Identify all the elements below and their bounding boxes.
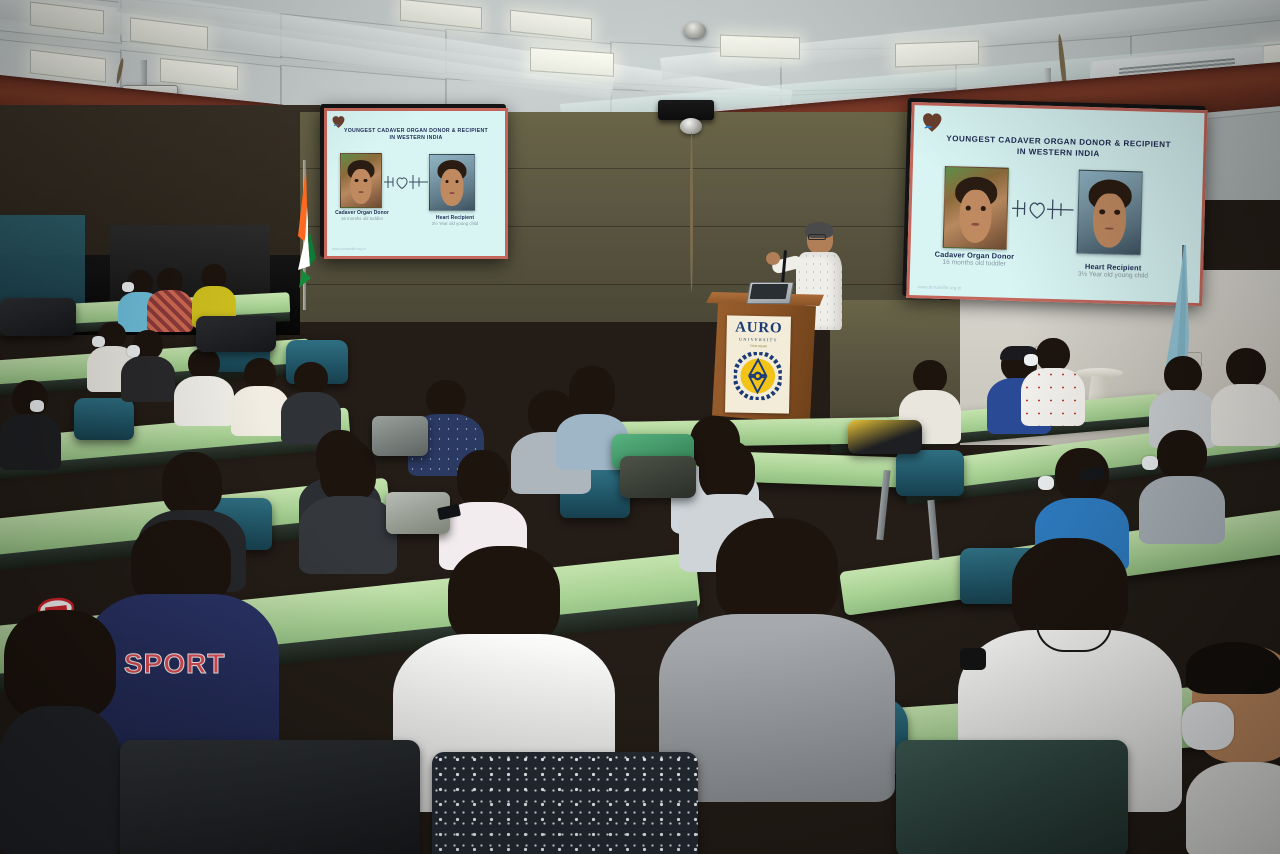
recipient-caption-sub: 3½ Year old young child	[419, 221, 491, 226]
audience-member-foreground-right-masked	[1186, 646, 1280, 854]
chair-back-row5-c[interactable]	[896, 450, 964, 496]
donate-life-heart-logo-right	[922, 111, 943, 134]
donor-photo-right	[943, 166, 1009, 250]
face-mask	[127, 345, 140, 357]
audience-member-left-3	[176, 348, 232, 420]
audience-member-foreground-bottom-left	[0, 610, 120, 854]
face-mask	[1142, 456, 1158, 470]
chair-leg-2	[927, 500, 939, 560]
audience-member-backrow-3	[192, 264, 236, 322]
face-mask	[1182, 702, 1234, 750]
backpack-grey-left	[0, 298, 76, 336]
audience-member-left-2	[122, 330, 174, 396]
recipient-photo-left	[429, 154, 475, 211]
backpack-yellow-right	[848, 420, 922, 454]
backpack-speckled-foreground	[432, 752, 698, 854]
ceiling-speaker	[658, 100, 714, 120]
shirt-graphic-text: SPORT	[124, 648, 225, 680]
wristwatch	[960, 648, 986, 670]
slide-title-right: YOUNGEST CADAVER ORGAN DONOR & RECIPIENT…	[931, 134, 1187, 162]
presenter-hand	[766, 252, 780, 265]
chair-back-row4-a[interactable]	[74, 398, 134, 440]
slide-title-left: YOUNGEST CADAVER ORGAN DONOR & RECIPIENT…	[338, 128, 495, 142]
slide-title-line2: IN WESTERN INDIA	[338, 135, 495, 142]
backpack-green-foreground	[896, 740, 1128, 854]
face-mask	[1038, 476, 1054, 490]
podium-sign: AURO UNIVERSITY Think Impact	[725, 315, 791, 413]
recipient-caption-left: Heart Recipient 3½ Year old young child	[419, 215, 491, 226]
face-mask	[30, 400, 44, 412]
head	[4, 610, 116, 720]
speaker-cable	[690, 132, 693, 292]
audience-member-backrow-2	[148, 268, 192, 326]
recipient-photo-right	[1077, 170, 1143, 256]
face-mask	[92, 336, 105, 347]
slide-url-right: www.donatelife.org.in	[917, 284, 961, 290]
auditorium-lecture-scene: YOUNGEST CADAVER ORGAN DONOR & RECIPIENT…	[0, 0, 1280, 854]
backpack-grey-row3	[372, 416, 428, 456]
audience-member-row3-2	[300, 440, 396, 566]
dome-security-camera	[684, 22, 706, 38]
dark-shirt	[0, 706, 123, 854]
slide-left: YOUNGEST CADAVER ORGAN DONOR & RECIPIENT…	[324, 108, 508, 259]
audience-member-right-6	[1140, 430, 1224, 538]
projection-screen-left: YOUNGEST CADAVER ORGAN DONOR & RECIPIENT…	[320, 104, 506, 257]
presenter-glasses	[808, 234, 826, 240]
podium-brand-sub: UNIVERSITY	[739, 337, 778, 343]
head	[716, 518, 838, 626]
donor-caption-sub: 16 months old toddler	[331, 216, 393, 221]
audience-member-right-3	[1022, 338, 1084, 420]
donor-photo-left	[340, 153, 382, 208]
podium-brand: AURO	[735, 321, 782, 337]
podium-tagline: Think Impact	[750, 344, 767, 348]
backpack-black-foreground	[120, 740, 420, 854]
ecg-heartbeat-graphic	[384, 171, 428, 191]
audience-member-left-4	[232, 358, 288, 430]
head	[448, 546, 560, 646]
audience-member-foreground-grey-tshirt	[662, 518, 892, 780]
hair	[1186, 642, 1280, 694]
slide-url-left: www.donatelife.org.in	[332, 247, 366, 251]
face-mask	[122, 282, 134, 292]
backpack-camo-row4	[620, 456, 696, 498]
donor-caption-right: Cadaver Organ Donor 16 months old toddle…	[926, 249, 1022, 268]
podium-laptop[interactable]	[748, 282, 792, 306]
slide-title-line1: YOUNGEST CADAVER ORGAN DONOR & RECIPIENT	[338, 128, 495, 135]
ecg-heartbeat-graphic-right	[1011, 193, 1074, 223]
recipient-caption-right: Heart Recipient 3½ Year old young child	[1058, 261, 1168, 280]
audience-member-right-5	[1212, 348, 1280, 440]
audience-member-left-6	[0, 380, 60, 462]
auro-star-emblem	[733, 352, 782, 401]
backpack-black-row5	[196, 316, 276, 352]
donor-caption-left: Cadaver Organ Donor 16 months old toddle…	[331, 210, 393, 221]
face-mask	[1024, 354, 1038, 366]
india-tricolor-flag	[292, 160, 318, 310]
audience-member-left-5	[282, 362, 340, 438]
donate-life-heart-logo	[332, 115, 345, 129]
